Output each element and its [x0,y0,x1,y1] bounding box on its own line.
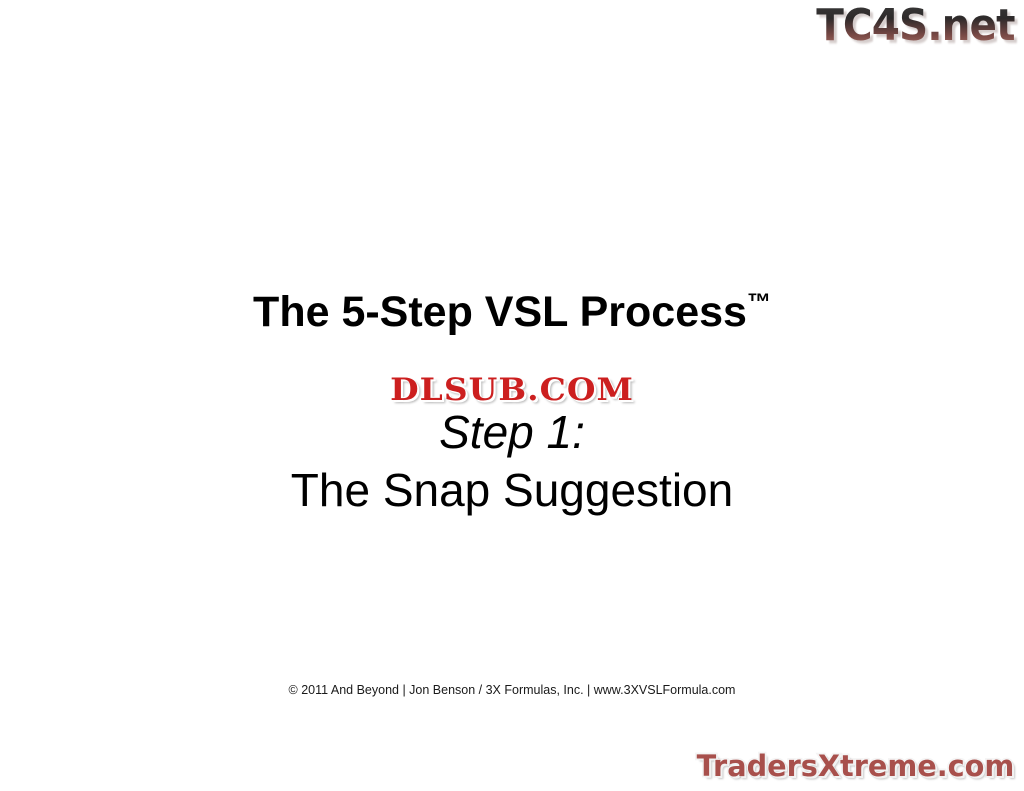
step-label: Step 1: [0,405,1024,459]
bottom-right-watermark: TradersXtreme.com [695,748,1016,784]
center-watermark: DLSUB.COM [0,372,1024,408]
page-title-text: The 5-Step VSL Process [253,288,747,336]
presentation-slide: TC4S.net TC4S.net The 5-Step VSL Process… [0,0,1024,791]
step-name: The Snap Suggestion [0,462,1024,518]
page-title: The 5-Step VSL Process™ [253,278,771,337]
trademark-symbol: ™ [747,289,771,316]
copyright-footer: © 2011 And Beyond | Jon Benson / 3X Form… [0,681,1024,699]
dlsub-watermark-text: DLSUB.COM [390,372,634,408]
tradersxtreme-watermark-text: TradersXtreme.com [697,748,1015,784]
title-block: The 5-Step VSL Process™ [0,278,1024,337]
tc4s-logo: TC4S.net [817,2,1015,50]
